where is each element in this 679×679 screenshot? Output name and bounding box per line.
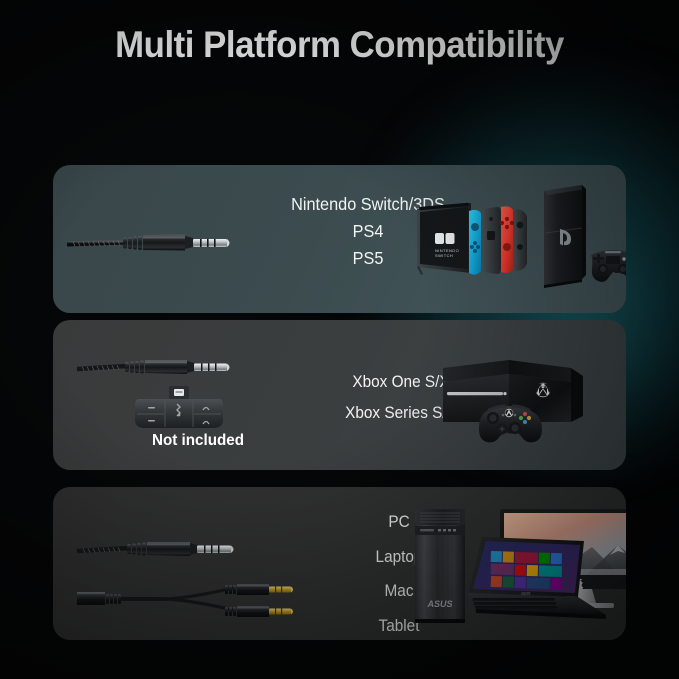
xbox-one-console-image: [431, 356, 591, 456]
panel-computer: PC Laptop Mac Tablet: [53, 487, 626, 640]
nintendo-switch-image: NINTENDO SWITCH: [411, 189, 536, 293]
panel-xbox: Not included Xbox One S/X Xbox Series S/…: [53, 320, 626, 470]
panel-console-playstation: Nintendo Switch/3DS PS4 PS5: [53, 165, 626, 313]
audio-jack-cable-image: [65, 225, 245, 261]
asus-brand-text: ASUS: [426, 599, 452, 609]
svg-text:SWITCH: SWITCH: [435, 253, 453, 258]
product-infographic: Multi Platform Compatibility: [0, 0, 679, 679]
page-title: Multi Platform Compatibility: [20, 24, 658, 66]
audio-jack-cable-image: [75, 535, 250, 565]
adapter-not-included-note: Not included: [127, 432, 270, 450]
audio-jack-cable-image: [75, 352, 245, 384]
playstation-4-console-image: [542, 181, 626, 299]
audio-splitter-cable-image: [75, 579, 305, 621]
laptop-image: acer: [460, 535, 612, 625]
xbox-stereo-headset-adapter-image: [131, 386, 227, 438]
